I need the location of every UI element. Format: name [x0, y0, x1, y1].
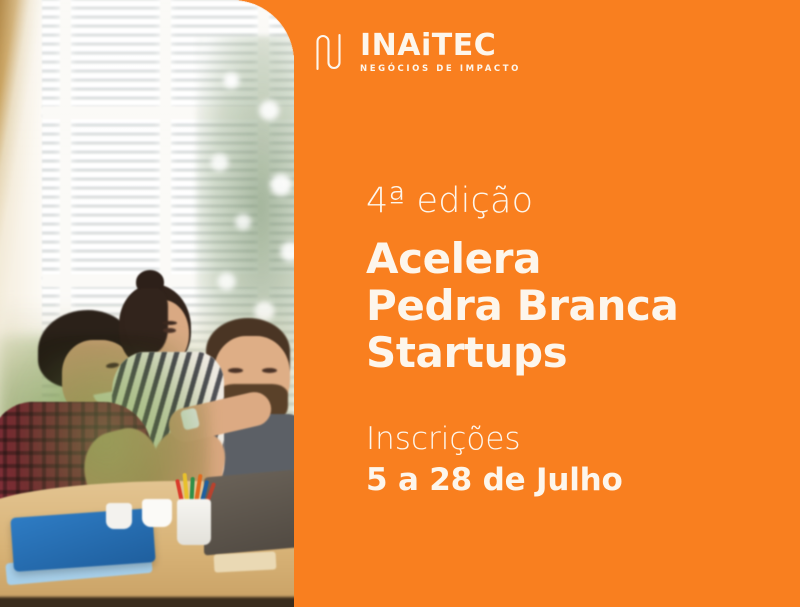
person-center-eyebrow: [162, 321, 177, 325]
inaitec-n-monogram-icon: [310, 31, 348, 73]
brand-logo-text: INAiTEC NEGÓCIOS DE IMPACTO: [360, 31, 521, 74]
registration-label: Inscrições: [366, 422, 786, 458]
desk-front-edge: [0, 597, 294, 607]
registration-block: Inscrições 5 a 28 de Julho: [366, 422, 786, 499]
brand-logo: INAiTEC NEGÓCIOS DE IMPACTO: [310, 31, 521, 74]
pencil-cup: [177, 499, 211, 545]
person-right-eye: [228, 368, 243, 373]
photo-stage: [0, 0, 294, 607]
notepad: [214, 551, 277, 572]
hero-photo: [0, 0, 294, 607]
poster-canvas: INAiTEC NEGÓCIOS DE IMPACTO 4ª edição Ac…: [0, 0, 800, 607]
poster-content: 4ª edição Acelera Pedra Branca Startups …: [366, 182, 786, 499]
laptop-icon: [204, 468, 294, 555]
headline-line-1: Acelera: [366, 235, 786, 282]
brand-wordmark: INAiTEC: [360, 31, 521, 61]
brand-tagline: NEGÓCIOS DE IMPACTO: [360, 65, 521, 74]
registration-dates: 5 a 28 de Julho: [366, 463, 786, 499]
blue-folder: [10, 508, 155, 572]
headline-line-3: Startups: [366, 329, 786, 376]
page-title: Acelera Pedra Branca Startups: [366, 235, 786, 376]
headline-line-2: Pedra Branca: [366, 282, 786, 329]
coffee-mug: [106, 503, 132, 529]
coffee-mug: [142, 499, 172, 527]
person-center-eye: [163, 328, 176, 333]
person-right-eye: [262, 368, 277, 373]
edition-eyebrow: 4ª edição: [366, 182, 786, 221]
